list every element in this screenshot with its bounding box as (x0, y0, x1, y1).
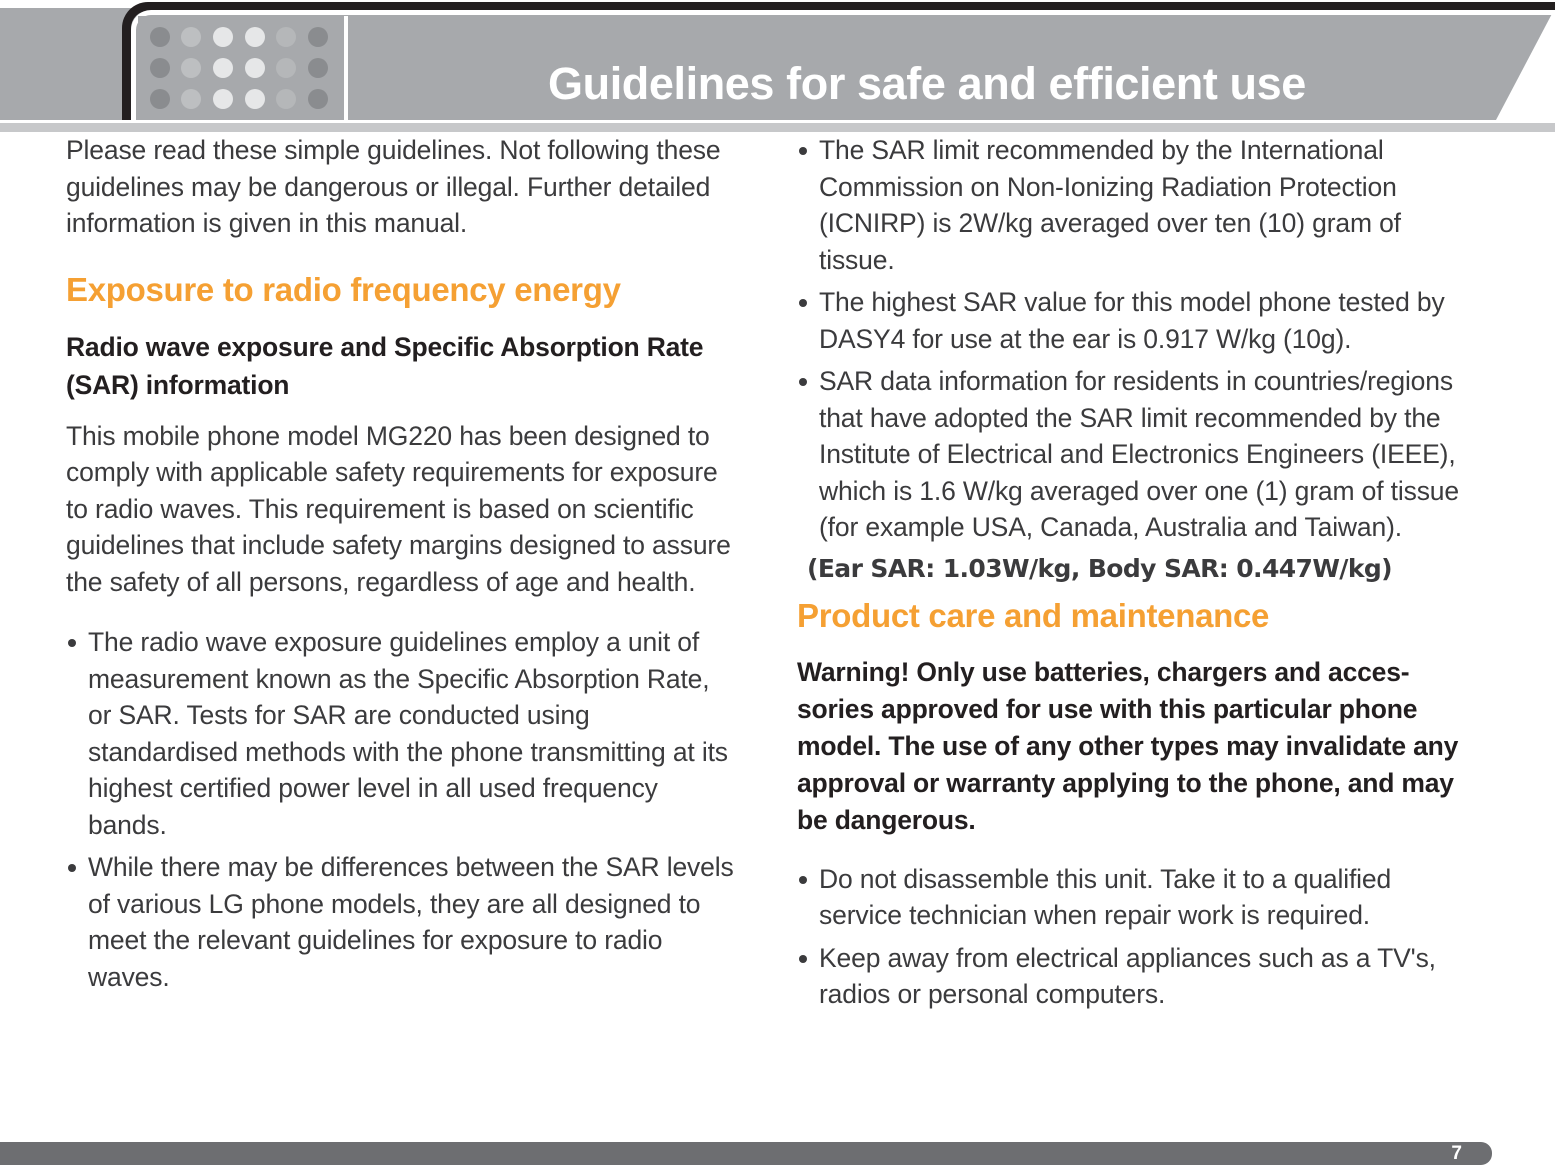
dot-icon (181, 89, 201, 109)
bullet-dot-icon (799, 876, 807, 884)
page-content: Please read these simple guidelines. Not… (0, 132, 1555, 1142)
dot-icon (276, 27, 296, 47)
list-item: The radio wave exposure guidelines emplo… (66, 624, 736, 843)
list-item: While there may be differences between t… (66, 849, 736, 995)
list-item-text: The radio wave exposure guidelines emplo… (88, 627, 728, 840)
sar-values-note: (Ear SAR: 1.03W/kg, Body SAR: 0.447W/kg) (797, 552, 1467, 586)
list-item: Keep away from electrical appliances suc… (797, 940, 1467, 1013)
dot-icon (213, 89, 233, 109)
list-item-text: The highest SAR value for this model pho… (819, 287, 1445, 354)
right-column: The SAR limit recommended by the Interna… (797, 132, 1467, 1019)
left-bullet-list: The radio wave exposure guidelines emplo… (66, 624, 736, 995)
dot-icon (150, 89, 170, 109)
page-footer-bar: 7 (0, 1142, 1492, 1165)
right-bullet-list-top: The SAR limit recommended by the Interna… (797, 132, 1467, 546)
bullet-dot-icon (799, 147, 807, 155)
bullet-dot-icon (68, 639, 76, 647)
dot-icon (276, 58, 296, 78)
bullet-dot-icon (799, 378, 807, 386)
list-item-text: Do not disassemble this unit. Take it to… (819, 864, 1391, 931)
page-title: Guidelines for safe and efficient use (548, 61, 1306, 106)
warning-paragraph: Warning! Only use batteries, chargers an… (797, 654, 1467, 839)
list-item: Do not disassemble this unit. Take it to… (797, 861, 1467, 934)
list-item-text: While there may be differences between t… (88, 852, 734, 992)
list-item-text: The SAR limit recommended by the Interna… (819, 135, 1401, 275)
list-item-text: SAR data information for residents in co… (819, 366, 1459, 542)
page-number: 7 (1451, 1143, 1462, 1164)
page-header: Guidelines for safe and efficient use (0, 0, 1555, 122)
header-divider (0, 123, 1555, 132)
dot-icon (245, 58, 265, 78)
sub-heading-sar-info: Radio wave exposure and Specific Absorpt… (66, 328, 736, 404)
dot-icon (150, 27, 170, 47)
left-column: Please read these simple guidelines. Not… (66, 132, 736, 1001)
dot-icon (213, 58, 233, 78)
dot-icon (245, 27, 265, 47)
dot-icon (181, 27, 201, 47)
dot-icon (308, 58, 328, 78)
dot-icon (181, 58, 201, 78)
section-heading-exposure: Exposure to radio frequency energy (66, 270, 736, 310)
body-paragraph-model: This mobile phone model MG220 has been d… (66, 418, 736, 601)
right-bullet-list-bottom: Do not disassemble this unit. Take it to… (797, 861, 1467, 1013)
list-item-text: Keep away from electrical appliances suc… (819, 943, 1436, 1010)
bullet-dot-icon (68, 864, 76, 872)
list-item: The SAR limit recommended by the Interna… (797, 132, 1467, 278)
dot-icon (308, 89, 328, 109)
list-item: The highest SAR value for this model pho… (797, 284, 1467, 357)
dot-icon (213, 27, 233, 47)
section-heading-product-care: Product care and maintenance (797, 596, 1467, 636)
dot-icon (276, 89, 296, 109)
intro-paragraph: Please read these simple guidelines. Not… (66, 132, 736, 242)
bullet-dot-icon (799, 299, 807, 307)
list-item: SAR data information for residents in co… (797, 363, 1467, 546)
dot-icon (245, 89, 265, 109)
dot-icon (308, 27, 328, 47)
dot-icon (150, 58, 170, 78)
dot-grid-decoration (138, 16, 348, 120)
bullet-dot-icon (799, 955, 807, 963)
